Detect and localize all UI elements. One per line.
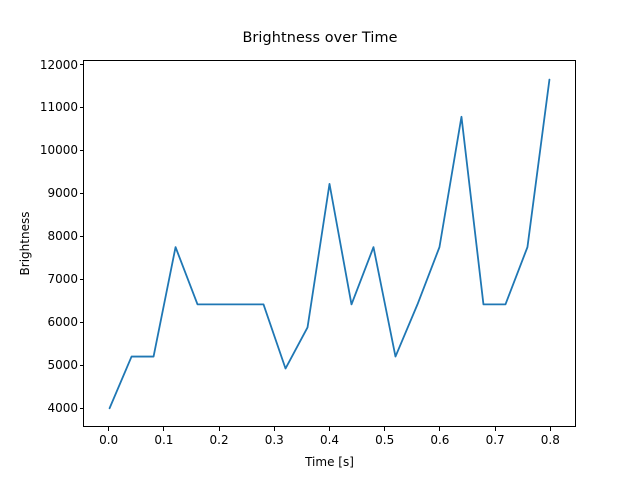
x-tick-label: 0.0: [99, 433, 118, 447]
y-axis-tick-labels: 400050006000700080009000100001100012000: [0, 0, 78, 480]
x-tick-label: 0.3: [265, 433, 284, 447]
x-tick-mark: [219, 427, 220, 431]
y-tick-label: 6000: [47, 315, 78, 329]
x-tick-label: 0.8: [541, 433, 560, 447]
y-tick-label: 11000: [40, 100, 78, 114]
y-tick-label: 10000: [40, 143, 78, 157]
x-tick-mark: [108, 427, 109, 431]
x-axis-title: Time [s]: [83, 455, 576, 469]
x-tick-mark: [384, 427, 385, 431]
brightness-line-series: [110, 80, 550, 409]
x-tick-mark: [550, 427, 551, 431]
x-tick-label: 0.6: [430, 433, 449, 447]
x-tick-label: 0.4: [320, 433, 339, 447]
y-tick-label: 4000: [47, 401, 78, 415]
x-tick-label: 0.2: [210, 433, 229, 447]
y-tick-label: 5000: [47, 358, 78, 372]
chart-title: Brightness over Time: [0, 30, 640, 46]
y-tick-label: 8000: [47, 229, 78, 243]
x-tick-label: 0.1: [154, 433, 173, 447]
x-tick-mark: [495, 427, 496, 431]
plot-area: [83, 60, 576, 427]
y-tick-label: 7000: [47, 272, 78, 286]
x-tick-mark: [439, 427, 440, 431]
x-tick-mark: [163, 427, 164, 431]
y-tick-label: 12000: [40, 58, 78, 72]
x-tick-mark: [274, 427, 275, 431]
figure-canvas: Brightness over Time 4000500060007000800…: [0, 0, 640, 480]
x-tick-mark: [329, 427, 330, 431]
x-axis-tick-labels: 0.00.10.20.30.40.50.60.70.8: [0, 433, 640, 453]
x-tick-label: 0.7: [486, 433, 505, 447]
y-tick-label: 9000: [47, 186, 78, 200]
line-series-svg: [84, 61, 575, 426]
y-axis-title: Brightness: [18, 60, 32, 427]
x-tick-label: 0.5: [375, 433, 394, 447]
